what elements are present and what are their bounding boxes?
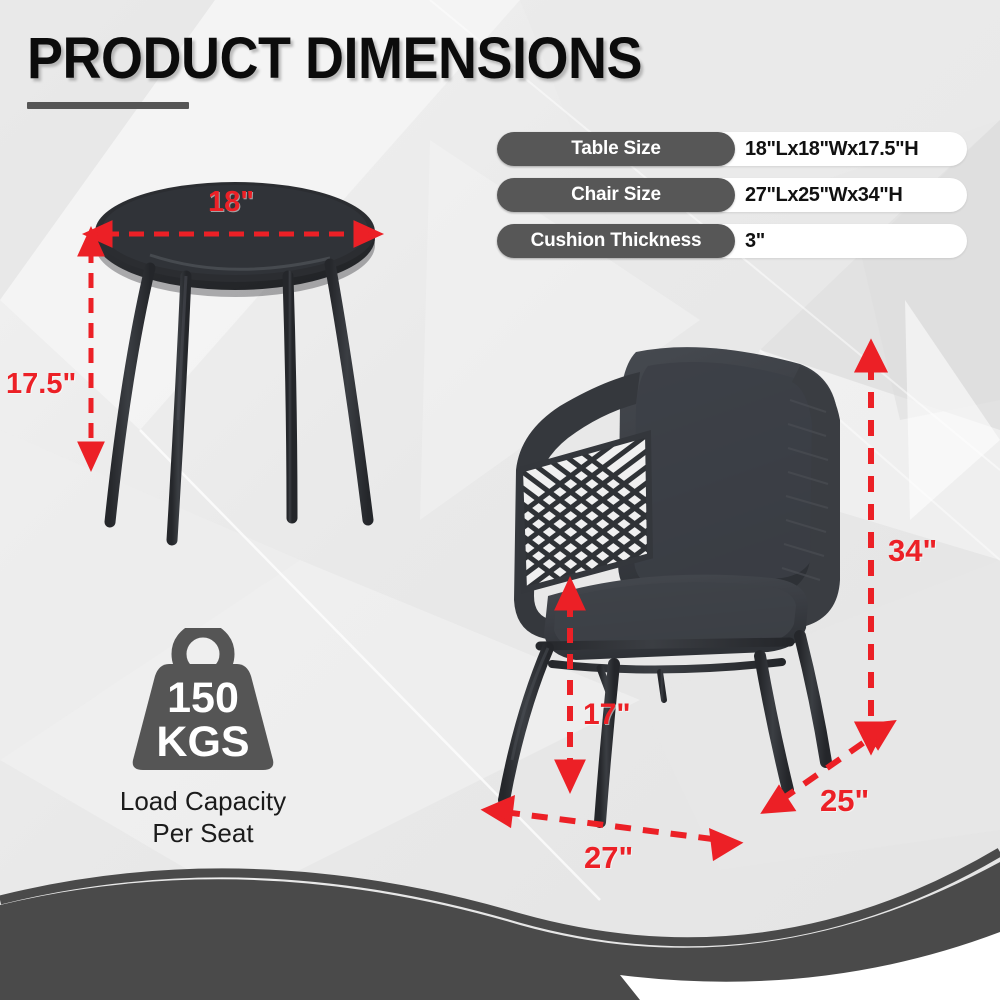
table-row: Cushion Thickness 3" (497, 224, 967, 258)
weight-icon: 150 KGS (123, 628, 283, 778)
dimension-label-chair-seat-height: 17" (583, 698, 631, 732)
page-title: PRODUCT DIMENSIONS (27, 30, 642, 88)
table-row: Table Size 18"Lx18"Wx17.5"H (497, 132, 967, 166)
load-capacity-line1: Load Capacity (108, 786, 298, 818)
title-underline (27, 102, 189, 109)
spec-label-cushion-thickness: Cushion Thickness (497, 224, 735, 258)
spec-table: Table Size 18"Lx18"Wx17.5"H Chair Size 2… (497, 132, 967, 270)
infographic-canvas: PRODUCT DIMENSIONS Table Size 18"Lx18"Wx… (0, 0, 1000, 1000)
dimension-label-chair-height: 34" (888, 533, 937, 569)
dimension-label-table-diameter: 18" (208, 186, 254, 219)
dimension-label-chair-width: 27" (584, 840, 633, 876)
spec-value-chair-size: 27"Lx25"Wx34"H (745, 178, 902, 212)
load-capacity-caption: Load Capacity Per Seat (108, 786, 298, 849)
dimension-label-table-height: 17.5" (6, 368, 76, 401)
load-capacity-block: 150 KGS Load Capacity Per Seat (108, 628, 298, 849)
load-capacity-line2: Per Seat (108, 818, 298, 850)
weight-unit: KGS (156, 718, 249, 766)
table-row: Chair Size 27"Lx25"Wx34"H (497, 178, 967, 212)
weight-amount: 150 (167, 674, 239, 722)
spec-value-table-size: 18"Lx18"Wx17.5"H (745, 132, 918, 166)
spec-label-chair-size: Chair Size (497, 178, 735, 212)
spec-label-table-size: Table Size (497, 132, 735, 166)
dimension-label-chair-depth: 25" (820, 783, 869, 819)
spec-value-cushion-thickness: 3" (745, 224, 765, 258)
